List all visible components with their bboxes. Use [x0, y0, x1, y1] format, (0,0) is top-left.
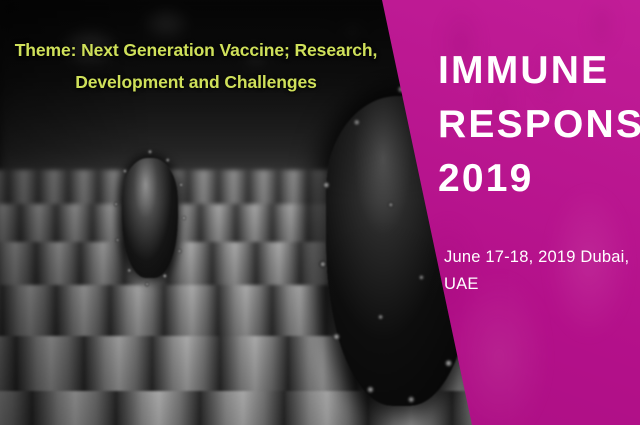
theme-line-2: Development and Challenges: [14, 66, 378, 98]
title-line-year: 2019: [438, 152, 634, 206]
date-location-block: June 17-18, 2019 Dubai, UAE: [444, 244, 636, 298]
date-line-2: UAE: [444, 271, 636, 298]
conference-banner: Theme: Next Generation Vaccine; Research…: [0, 0, 640, 425]
theme-text-block: Theme: Next Generation Vaccine; Research…: [0, 34, 392, 98]
title-line-immune: IMMUNE: [438, 44, 634, 98]
conference-title-block: IMMUNE RESPONSE 2019: [438, 44, 634, 206]
date-line-1: June 17-18, 2019 Dubai,: [444, 244, 636, 271]
theme-line-1: Theme: Next Generation Vaccine; Research…: [14, 34, 378, 66]
title-line-response: RESPONSE: [438, 98, 634, 152]
